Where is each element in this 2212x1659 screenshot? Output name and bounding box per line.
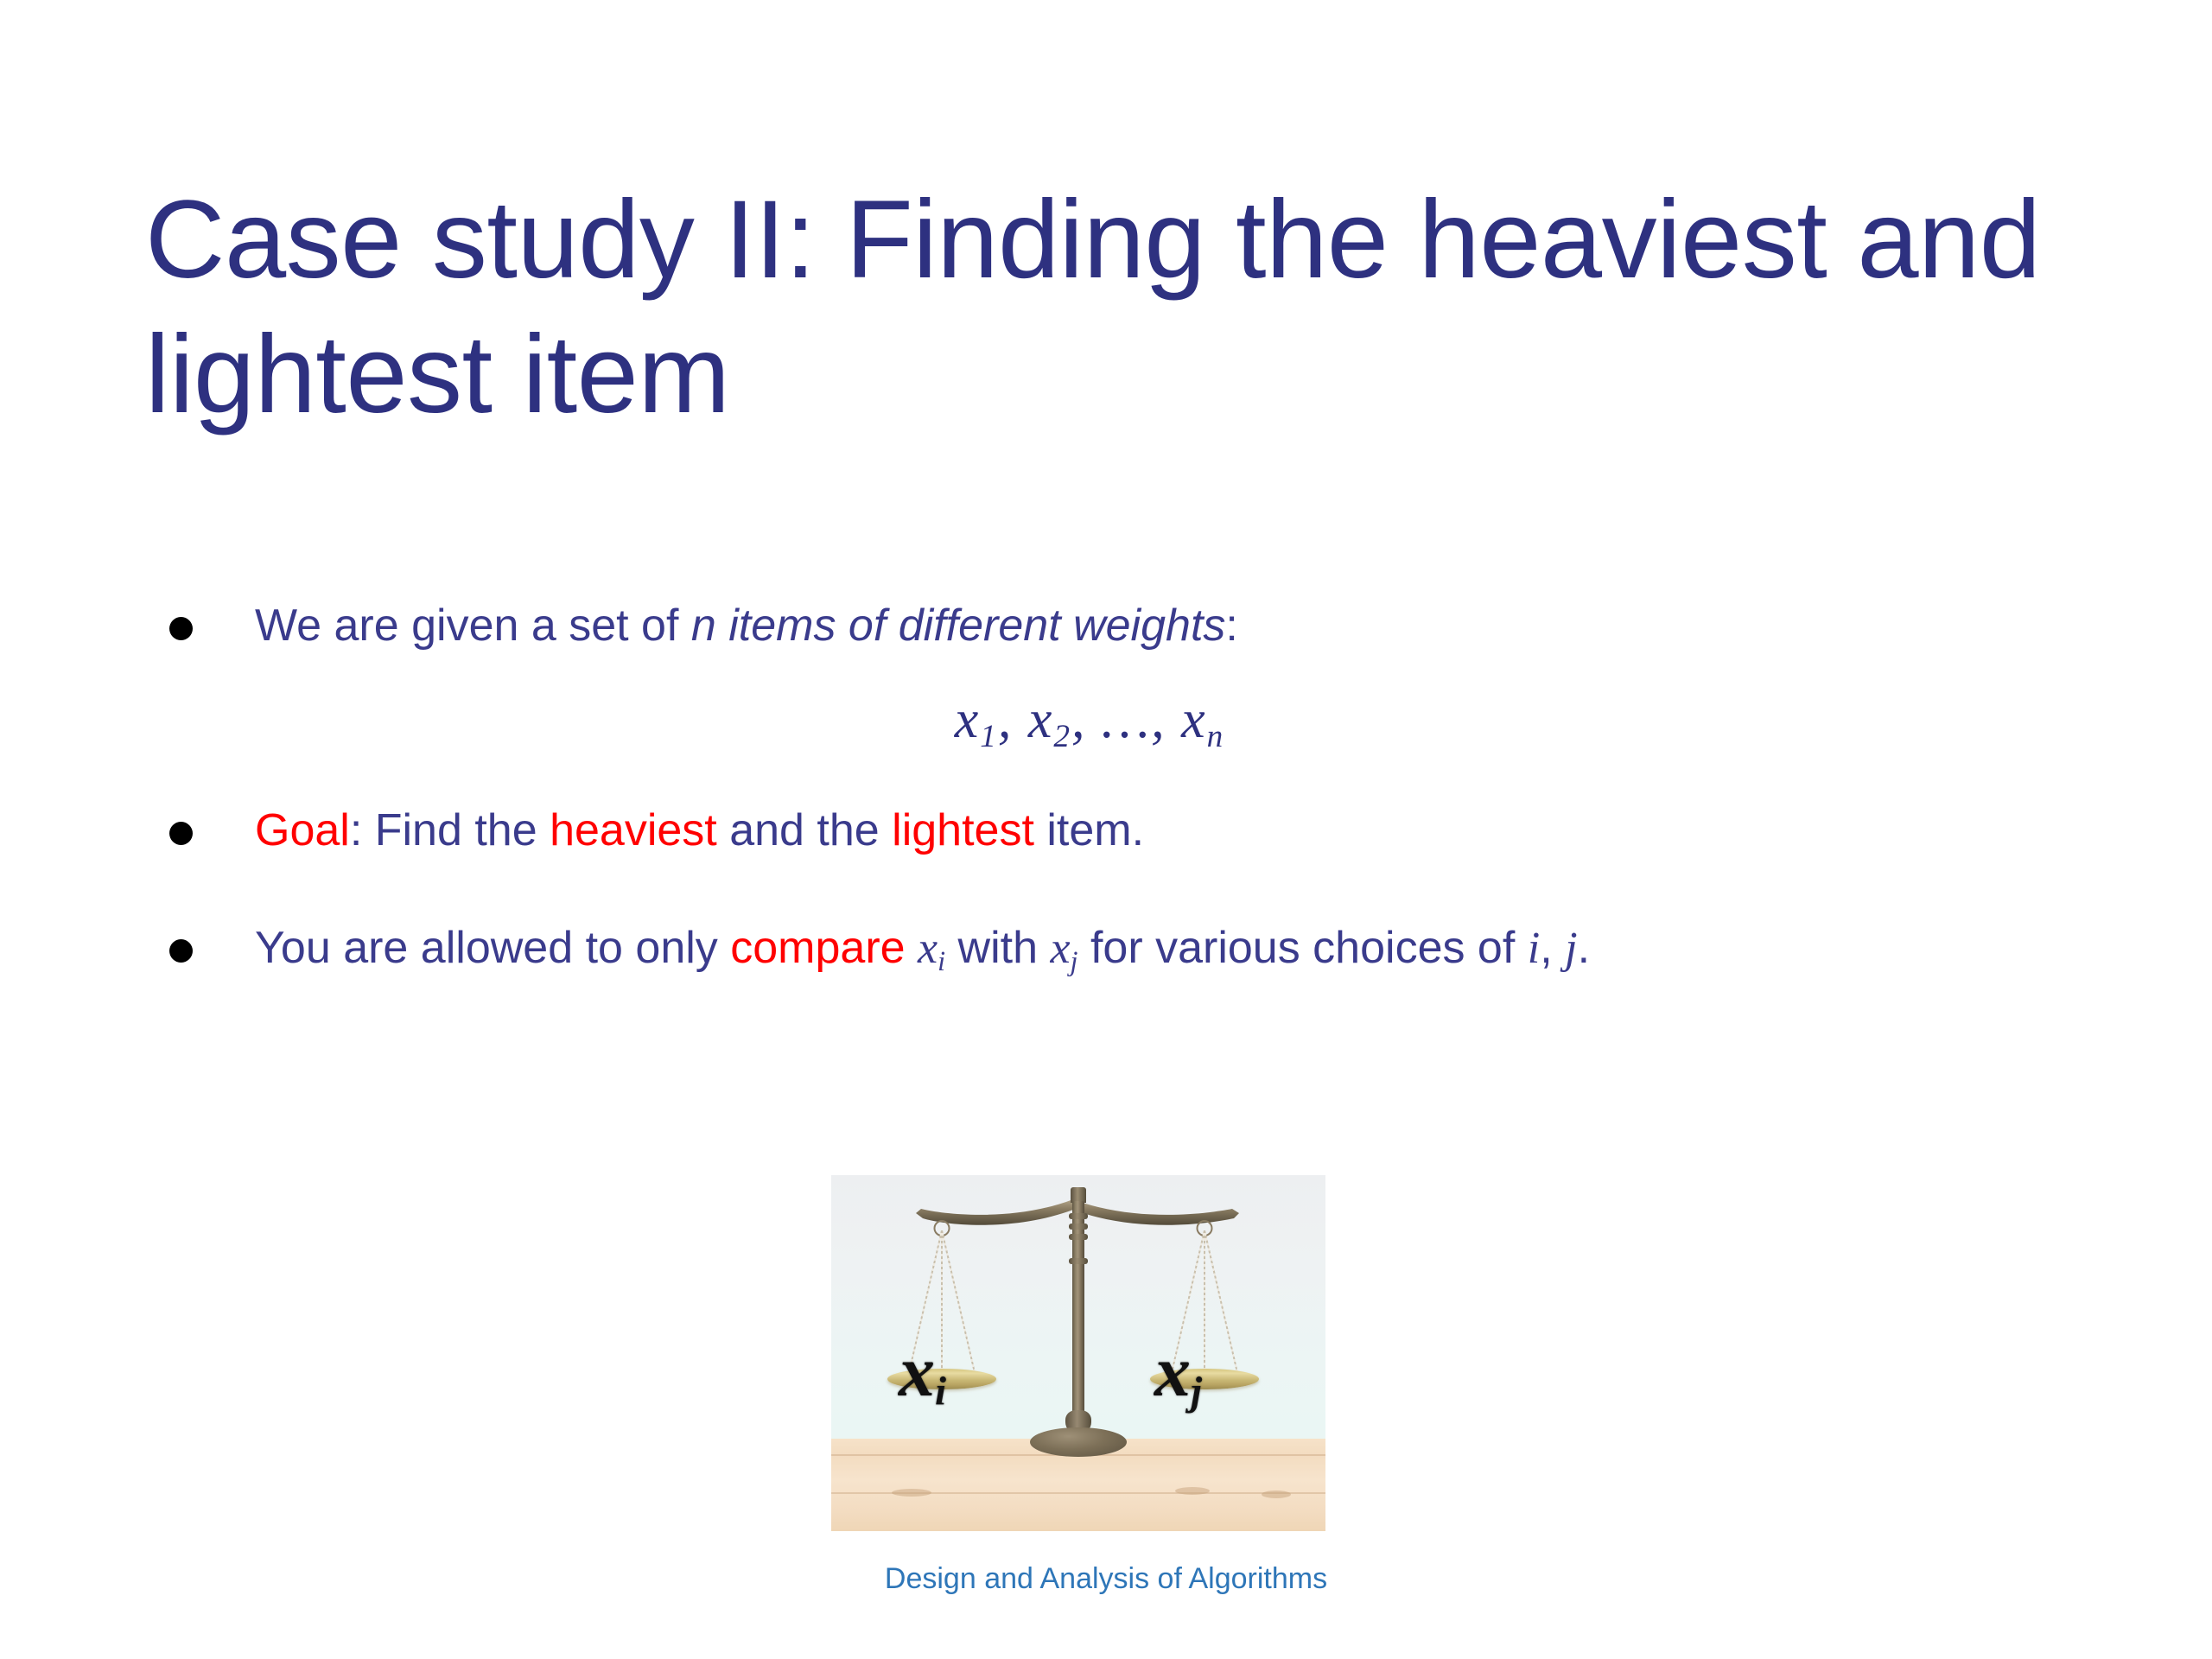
spacer-after-bullet-2 [169, 860, 2122, 918]
bullet-2-plain-3: item. [1034, 805, 1144, 855]
right-chain [1204, 1230, 1238, 1372]
balance-scale-image: xi xj [831, 1175, 1325, 1531]
bullet-3-compare-keyword: compare [730, 923, 905, 973]
bullet-item-3: You are allowed to only compare xi with … [169, 918, 2122, 979]
right-pan-label: xj [1154, 1336, 1202, 1408]
formula-sequence: x1, x2, …, xn [169, 690, 2010, 751]
post-decorative-ring [1069, 1224, 1088, 1230]
formula-x2-sub: 2 [1053, 719, 1071, 754]
math-xj-base: x [1050, 924, 1070, 973]
bullet-2-plain-2: and the [717, 805, 892, 855]
left-pan-label-base: x [899, 1332, 935, 1412]
right-pan-label-base: x [1154, 1332, 1191, 1412]
bullet-3-math-i: i [1528, 924, 1540, 973]
bullet-3-space-a [906, 923, 918, 973]
bullet-1-suffix: : [1225, 601, 1237, 651]
table-wood-knot [1262, 1491, 1291, 1498]
math-xi-sub: i [938, 945, 945, 976]
bullet-3-plain-4: , [1540, 923, 1565, 973]
bullet-3-plain-5: . [1578, 923, 1590, 973]
bullet-dot-icon [169, 939, 193, 963]
bullet-2-heaviest-keyword: heaviest [550, 805, 717, 855]
bullet-item-1: We are given a set of n items of differe… [169, 596, 2122, 656]
math-xj-sub: j [1071, 945, 1078, 976]
post-decorative-ring [1069, 1213, 1088, 1219]
table-wood-knot [892, 1489, 931, 1497]
bullet-2-plain-1: : Find the [350, 805, 550, 855]
left-pan-label: xi [899, 1336, 946, 1408]
formula-x1-base: x [955, 690, 981, 749]
page-title: Case study II: Finding the heaviest and … [145, 173, 2089, 442]
slide-canvas: Case study II: Finding the heaviest and … [0, 0, 2212, 1659]
bullet-item-2: Goal: Find the heaviest and the lightest… [169, 801, 2122, 861]
formula-sep-2: , …, [1071, 690, 1181, 749]
formula-x1-sub: 1 [980, 719, 998, 754]
bullet-1-italic: n items of different weights [691, 601, 1226, 651]
bullet-3-plain-3: for various choices of [1078, 923, 1528, 973]
post-decorative-ring [1069, 1234, 1088, 1240]
bullet-3-math-xi: xi [918, 924, 945, 973]
post-decorative-ring [1069, 1258, 1088, 1264]
bullet-2-lightest-keyword: lightest [892, 805, 1034, 855]
table-wood-knot [1175, 1487, 1210, 1495]
bullet-item-2-text: Goal: Find the heaviest and the lightest… [255, 801, 2122, 861]
right-pan-label-sub: j [1191, 1369, 1202, 1414]
balance-base [1030, 1427, 1127, 1457]
formula-xn-base: x [1181, 690, 1207, 749]
math-xi-base: x [918, 924, 938, 973]
formula-x2-base: x [1028, 690, 1054, 749]
bullet-dot-icon [169, 617, 193, 640]
slide-footer: Design and Analysis of Algorithms [0, 1562, 2212, 1596]
bullet-dot-icon [169, 822, 193, 845]
bullet-3-plain-2: with [945, 923, 1050, 973]
right-chain [1204, 1230, 1205, 1379]
bullet-item-1-text: We are given a set of n items of differe… [255, 596, 2122, 656]
bullet-3-math-xj: xj [1050, 924, 1077, 973]
formula-sep-1: , [998, 690, 1028, 749]
bullet-list: We are given a set of n items of differe… [169, 596, 2122, 979]
formula-xn-sub: n [1207, 719, 1225, 754]
bullet-1-prefix: We are given a set of [255, 601, 691, 651]
bullet-item-3-text: You are allowed to only compare xi with … [255, 918, 2122, 979]
bullet-3-math-j: j [1565, 924, 1577, 973]
bullet-3-plain-1: You are allowed to only [255, 923, 730, 973]
bullet-2-goal-keyword: Goal [255, 805, 350, 855]
left-pan-label-sub: i [935, 1369, 946, 1414]
